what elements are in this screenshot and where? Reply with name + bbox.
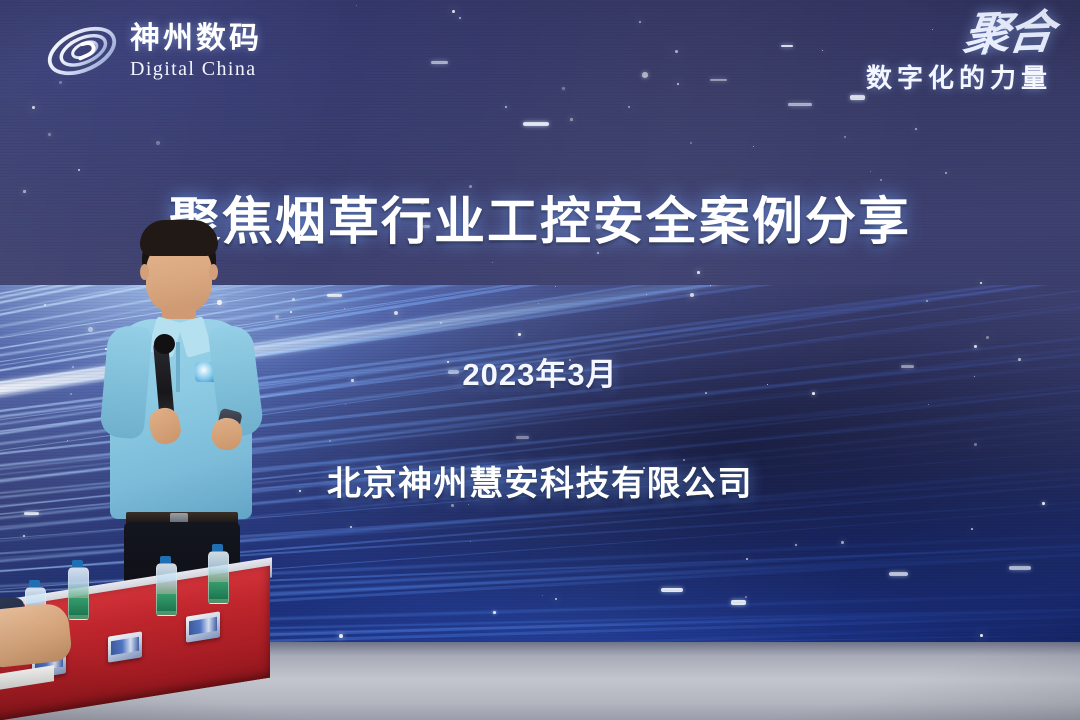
light-particle — [628, 106, 630, 108]
brand-name-en: Digital China — [130, 59, 262, 79]
water-bottle — [156, 556, 175, 614]
event-logo: 聚合 数字化的力量 — [866, 14, 1052, 95]
speaker-ear-left — [140, 264, 149, 280]
light-particle — [32, 106, 35, 109]
light-particle — [505, 106, 507, 108]
light-particle — [570, 118, 573, 121]
bottle-label — [69, 598, 88, 615]
bottle-label — [157, 594, 176, 611]
placard-text-band — [189, 617, 217, 635]
light-particle — [915, 128, 917, 130]
name-placard — [108, 631, 142, 662]
light-particle — [844, 136, 846, 138]
name-placard — [186, 611, 220, 642]
attendee-arm — [0, 602, 73, 668]
light-particle — [945, 172, 947, 174]
water-bottle — [208, 544, 227, 602]
digital-china-wordmark: 神州数码 Digital China — [130, 24, 262, 79]
light-particle — [356, 5, 357, 6]
screenshot-root: 神州数码 Digital China 聚合 数字化的力量 聚焦烟草行业工控安全案… — [0, 0, 1080, 720]
light-dash — [710, 79, 727, 81]
light-dash — [788, 103, 812, 106]
light-particle — [156, 141, 160, 145]
speaker-placket — [176, 342, 180, 392]
digital-china-logo: 神州数码 Digital China — [44, 16, 262, 86]
light-particle — [870, 171, 871, 172]
speaker-ear-right — [209, 264, 218, 280]
bottle-label — [209, 582, 228, 599]
bottle-body — [156, 563, 177, 616]
light-particle — [492, 262, 493, 263]
water-bottle — [68, 560, 87, 618]
light-particle — [690, 142, 692, 144]
light-dash — [781, 45, 793, 47]
light-particle — [822, 50, 823, 51]
light-particle — [675, 50, 678, 53]
digital-china-swirl-icon — [44, 16, 120, 86]
light-particle — [980, 282, 982, 284]
light-particle — [697, 271, 700, 274]
light-particle — [639, 21, 641, 23]
light-particle — [452, 10, 455, 13]
light-particle — [562, 87, 565, 90]
event-calligraphy: 聚合 — [961, 12, 1054, 56]
bottle-body — [68, 567, 89, 620]
bottle-body — [208, 551, 229, 604]
light-particle — [677, 83, 679, 85]
light-dash — [431, 61, 448, 64]
light-dash — [850, 95, 865, 100]
event-tagline: 数字化的力量 — [866, 58, 1052, 95]
speaker-hair-top — [140, 220, 218, 256]
brand-name-cn: 神州数码 — [130, 24, 262, 54]
light-particle — [78, 169, 80, 171]
light-particle — [48, 133, 51, 136]
light-particle — [642, 72, 648, 78]
placard-text-band — [111, 637, 139, 655]
light-particle — [753, 146, 754, 147]
light-dash — [523, 122, 549, 126]
light-particle — [459, 17, 461, 19]
